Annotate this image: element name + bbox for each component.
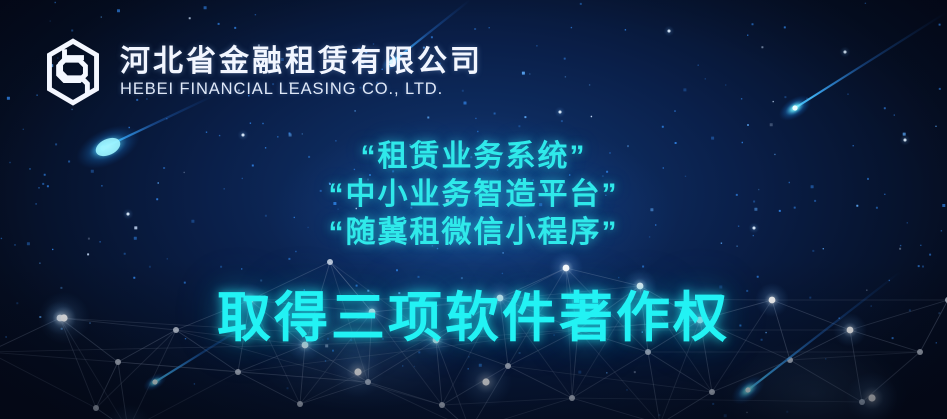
award-title: 取得三项软件著作权	[0, 287, 947, 349]
logo-block: 河北省金融租赁有限公司 HEBEI FINANCIAL LEASING CO.,…	[40, 38, 483, 106]
product-line-3: “随冀租微信小程序”	[0, 214, 947, 252]
company-name-cn: 河北省金融租赁有限公司	[120, 46, 483, 78]
logo-text-block: 河北省金融租赁有限公司 HEBEI FINANCIAL LEASING CO.,…	[120, 46, 483, 99]
content-layer: 河北省金融租赁有限公司 HEBEI FINANCIAL LEASING CO.,…	[0, 0, 947, 419]
product-line-2: “中小业务智造平台”	[0, 176, 947, 214]
product-lines-block: “租赁业务系统” “中小业务智造平台” “随冀租微信小程序”	[0, 138, 947, 252]
hexagon-monogram-icon	[40, 38, 106, 106]
banner-root: 河北省金融租赁有限公司 HEBEI FINANCIAL LEASING CO.,…	[0, 0, 947, 419]
company-name-en: HEBEI FINANCIAL LEASING CO., LTD.	[120, 80, 483, 98]
product-line-1: “租赁业务系统”	[0, 138, 947, 176]
